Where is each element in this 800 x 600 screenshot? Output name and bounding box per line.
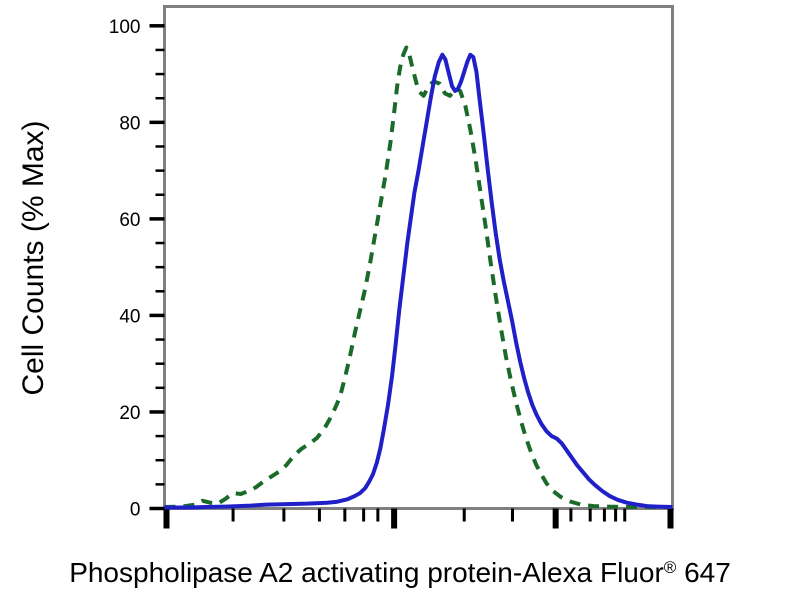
y-axis-tick-label: 80 xyxy=(119,113,140,134)
y-axis-tick-label: 40 xyxy=(119,306,140,327)
y-axis-title-label: Cell Counts (% Max) xyxy=(17,120,50,395)
plot-frame xyxy=(165,7,673,509)
y-axis-tick-label: 20 xyxy=(119,403,140,424)
y-axis-tick-label: 100 xyxy=(109,17,141,38)
x-axis-title: Phospholipase A2 activating protein-Alex… xyxy=(69,557,731,588)
plot-area-border xyxy=(165,7,673,509)
y-axis-tick-labels: 020406080100 xyxy=(109,17,141,521)
flow-cytometry-figure: 020406080100 Cell Counts (% Max) Phospho… xyxy=(0,0,800,600)
x-axis-title-tail: 647 xyxy=(676,557,731,588)
histogram-chart: 020406080100 Cell Counts (% Max) Phospho… xyxy=(0,0,800,600)
x-axis-title-label: Phospholipase A2 activating protein-Alex… xyxy=(69,557,731,588)
y-axis-tick-label: 0 xyxy=(130,500,141,521)
y-axis-title: Cell Counts (% Max) xyxy=(17,120,50,395)
x-axis-title-main: Phospholipase A2 activating protein-Alex… xyxy=(69,557,664,588)
registered-trademark-icon: ® xyxy=(664,558,677,577)
y-axis-tick-label: 60 xyxy=(119,210,140,231)
y-axis-ticks xyxy=(150,26,165,509)
x-axis-ticks xyxy=(167,509,671,529)
